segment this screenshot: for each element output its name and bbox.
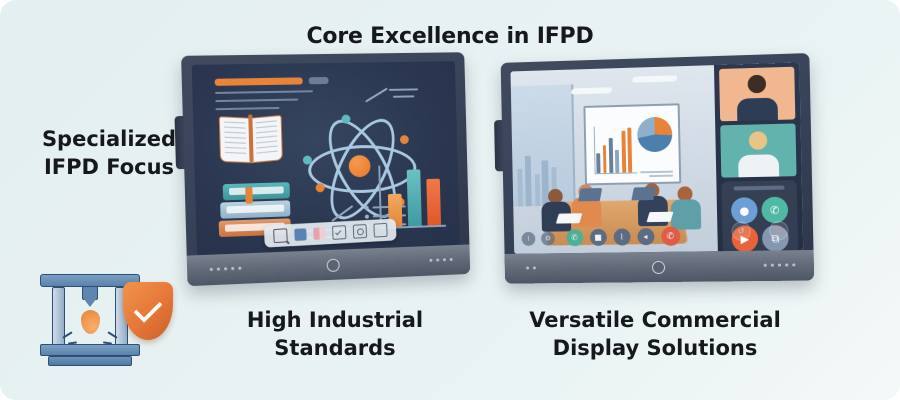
quality-shield-check-icon xyxy=(123,282,173,340)
bullet-dot xyxy=(365,215,369,219)
camera-icon[interactable] xyxy=(352,224,366,239)
education-screen[interactable] xyxy=(192,61,460,255)
document-papers xyxy=(556,214,582,224)
microphone-off-icon[interactable]: ⌇ xyxy=(522,232,536,246)
chart-bar xyxy=(426,179,441,226)
laptop xyxy=(578,188,602,201)
gear-icon[interactable]: ⚙ xyxy=(541,232,555,246)
bookmark xyxy=(245,187,253,203)
chart-bar xyxy=(621,131,626,172)
caption-middle-line2: Standards xyxy=(215,335,455,363)
participant-thumbnail[interactable] xyxy=(719,67,795,122)
display-sensor-icon xyxy=(652,261,665,274)
conference-screen[interactable]: ⌇ ⚙ ✆ ■ ⌇ ◂ ✆ xyxy=(510,62,803,253)
attendee-body xyxy=(670,199,701,230)
caption-right-line1: Versatile Commercial xyxy=(529,308,781,332)
shield-shape xyxy=(123,282,173,340)
toggle-microphone-button[interactable]: ⌇ xyxy=(613,228,630,245)
lesson-text-line xyxy=(215,99,298,103)
caption-versatile-commercial-display-solutions: Versatile Commercial Display Solutions xyxy=(495,307,815,362)
ifpd-conference-display[interactable]: ⌇ ⚙ ✆ ■ ⌇ ◂ ✆ xyxy=(501,53,814,283)
display-bottom-bezel xyxy=(505,250,815,284)
lesson-text-line xyxy=(215,107,279,110)
checkmark-icon xyxy=(134,294,163,323)
impact-weight xyxy=(81,310,100,334)
palette-icon[interactable] xyxy=(313,227,325,240)
callout-top xyxy=(363,83,418,98)
checklist-icon[interactable] xyxy=(331,225,345,240)
ifpd-infographic: Core Excellence in IFPD Specialized IFPD… xyxy=(0,0,900,400)
panel-divider xyxy=(734,186,785,191)
callout-leader xyxy=(365,88,387,103)
test-rig-foot xyxy=(48,356,132,366)
participant-head xyxy=(749,132,768,151)
callout-line xyxy=(389,88,418,90)
status-indicator-dots xyxy=(210,267,242,271)
participant-body xyxy=(737,98,778,121)
participant-head xyxy=(748,75,767,94)
caption-high-industrial-standards: High Industrial Standards xyxy=(215,307,455,362)
status-indicator-dots xyxy=(526,266,536,269)
caption-specialized-ifpd-focus: Specialized IFPD Focus xyxy=(14,126,204,181)
ifpd-education-display[interactable] xyxy=(181,52,470,286)
whiteboard-pie-chart xyxy=(637,116,673,152)
atom-electron xyxy=(400,135,409,144)
page-title: Core Excellence in IFPD xyxy=(0,24,900,49)
participant-body xyxy=(738,154,779,177)
conference-control-panel: ● ✆ ▶ ⧉ xyxy=(721,180,798,254)
caption-right-line2: Display Solutions xyxy=(495,335,815,363)
book-middle xyxy=(220,200,290,218)
whiteboard-text-line xyxy=(640,170,673,173)
bullet-dot xyxy=(365,206,369,210)
participant-thumbnail[interactable] xyxy=(720,123,796,177)
laptop xyxy=(632,187,656,200)
chart-bar xyxy=(609,138,613,173)
atom-electron xyxy=(316,183,325,192)
control-indicator-dots xyxy=(429,258,452,262)
conference-sidebar: ● ✆ ▶ ⧉ ↺ ⏻ xyxy=(714,62,803,251)
attendee xyxy=(541,188,571,231)
book-page-left xyxy=(219,116,252,163)
lesson-title-bar-secondary xyxy=(309,77,329,84)
presentation-whiteboard xyxy=(584,103,682,185)
toggle-speaker-button[interactable]: ◂ xyxy=(637,228,654,245)
chart-bar xyxy=(615,150,619,173)
callout-line xyxy=(393,95,414,97)
chart-bar xyxy=(407,169,422,226)
attendee xyxy=(670,186,701,230)
chart-bar xyxy=(603,146,607,173)
open-book-icon xyxy=(219,114,283,163)
end-call-button[interactable]: ✆ xyxy=(661,227,680,246)
chart-bar xyxy=(628,127,633,172)
search-icon[interactable] xyxy=(273,228,288,243)
ceiling-light xyxy=(570,87,612,94)
document-papers xyxy=(646,212,673,222)
display-sensor-icon xyxy=(326,259,339,273)
corner-controls[interactable]: ⌇ ⚙ xyxy=(522,232,555,246)
lesson-title-lines xyxy=(215,77,322,110)
display-side-grip xyxy=(494,120,504,171)
chart-bar xyxy=(596,153,600,173)
ceiling-light xyxy=(631,76,678,83)
test-rig-base xyxy=(40,344,140,356)
whiteboard-text-line xyxy=(649,175,673,177)
meeting-room-video-feed: ⌇ ⚙ ✆ ■ ⌇ ◂ ✆ xyxy=(510,65,717,254)
person-icon[interactable]: ● xyxy=(731,197,758,224)
slide-icon[interactable] xyxy=(294,228,307,241)
toggle-camera-button[interactable]: ■ xyxy=(589,229,606,246)
phone-icon[interactable]: ✆ xyxy=(761,197,788,224)
test-rig-tip xyxy=(83,298,97,307)
caption-left-line1: Specialized xyxy=(42,127,176,151)
lesson-text-line xyxy=(215,90,313,94)
lesson-title-bar xyxy=(215,77,303,86)
answer-call-button[interactable]: ✆ xyxy=(566,229,583,246)
book-page-right xyxy=(250,115,282,163)
caption-left-line2: IFPD Focus xyxy=(14,154,204,182)
control-indicator-dots xyxy=(764,263,796,266)
caption-middle-line1: High Industrial xyxy=(247,308,423,332)
document-icon[interactable] xyxy=(373,223,387,238)
whiteboard-bar-chart xyxy=(593,125,637,174)
book-top xyxy=(223,182,290,200)
call-control-bar[interactable]: ✆ ■ ⌇ ◂ ✆ xyxy=(566,227,680,248)
